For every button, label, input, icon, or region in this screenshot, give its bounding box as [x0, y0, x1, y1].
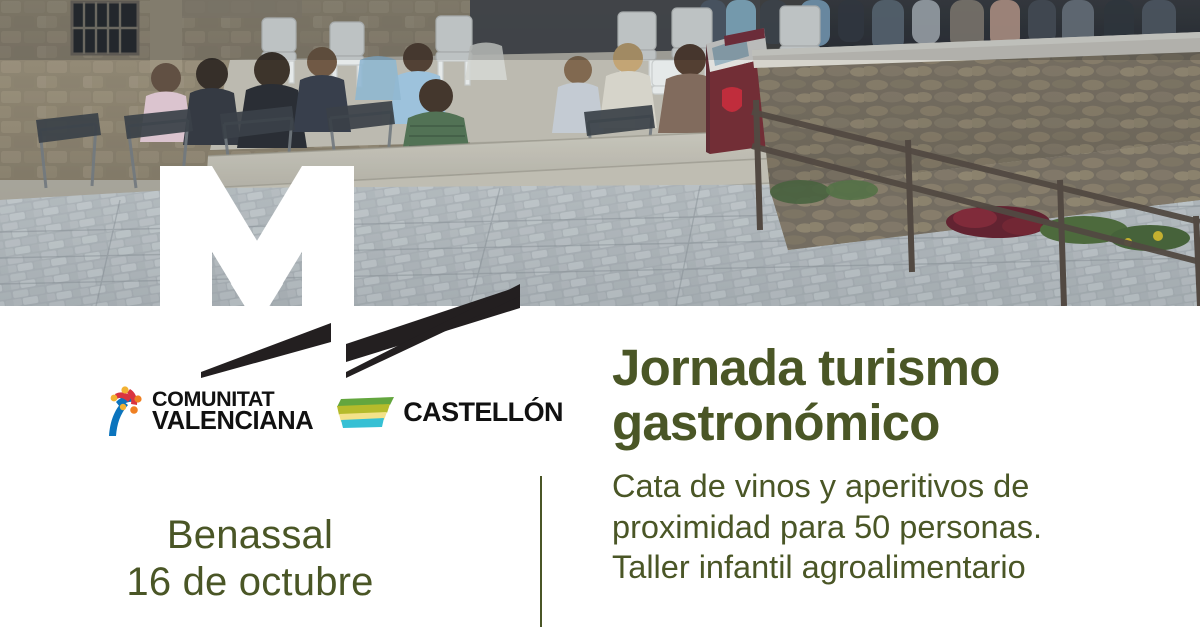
logo-castellon: CASTELLÓN	[337, 396, 563, 429]
title-line-1: Jornada turismo	[612, 340, 1200, 395]
description-line-3: Taller infantil agroalimentario	[612, 547, 1200, 588]
event-description: Cata de vinos y aperitivos de proximidad…	[612, 466, 1200, 588]
event-details: Jornada turismo gastronómico Cata de vin…	[612, 340, 1200, 588]
event-date: 16 de octubre	[0, 559, 500, 606]
castellon-label: CASTELLÓN	[403, 397, 563, 428]
comunitat-valenciana-icon	[101, 386, 147, 438]
poster-root: COMUNITAT VALENCIANA CASTELLÓN Benassal …	[0, 0, 1200, 627]
logo-comunitat-valenciana: COMUNITAT VALENCIANA	[101, 386, 313, 438]
description-line-2: proximidad para 50 personas.	[612, 507, 1200, 548]
logo-cv-line2: VALENCIANA	[152, 410, 313, 433]
title-line-2: gastronómico	[612, 395, 1200, 450]
page-title: Jornada turismo gastronómico	[612, 340, 1200, 450]
vertical-divider	[540, 476, 542, 627]
castellon-icon	[337, 396, 394, 429]
event-location-date: Benassal 16 de octubre	[0, 512, 500, 606]
plaza-event-photo	[0, 0, 1200, 306]
institutional-logos: COMUNITAT VALENCIANA CASTELLÓN	[101, 386, 563, 438]
description-line-1: Cata de vinos y aperitivos de	[612, 466, 1200, 507]
event-location: Benassal	[0, 512, 500, 559]
comunitat-valenciana-label: COMUNITAT VALENCIANA	[152, 390, 313, 433]
